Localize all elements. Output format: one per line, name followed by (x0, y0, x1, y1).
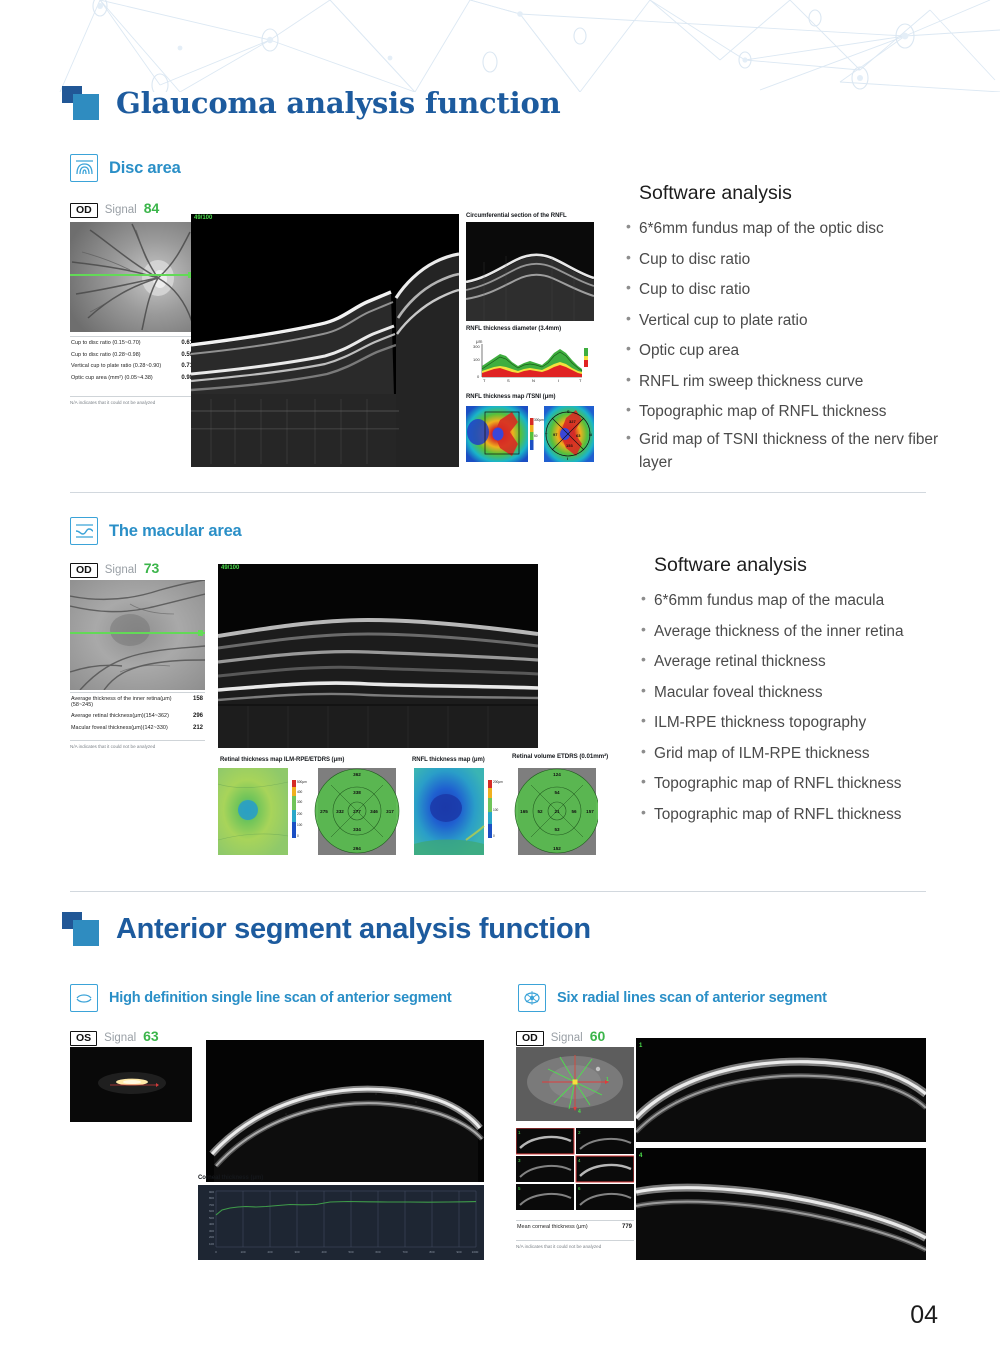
svg-text:800: 800 (209, 1196, 214, 1200)
page-number: 04 (910, 1301, 938, 1330)
table-row: Vertical cup to plate ratio (0.28~0.90) … (70, 361, 195, 373)
svg-text:53: 53 (554, 827, 560, 832)
section-marker-icon (62, 86, 102, 120)
caption-rnfl-tsni: RNFL thickness map /TSNI (μm) (466, 394, 555, 400)
list-item: Vertical cup to plate ratio (625, 306, 945, 337)
svg-text:152: 152 (553, 846, 561, 851)
svg-text:21: 21 (554, 809, 560, 814)
svg-text:327: 327 (569, 419, 576, 424)
signal-row-anterior-left: OS Signal 63 (70, 1028, 159, 1046)
anterior-preview-image-left (70, 1047, 192, 1122)
na-note-macula: N/A indicates that it could not be analy… (70, 740, 205, 749)
svg-text:317: 317 (386, 809, 394, 814)
eye-tag-od: OD (70, 203, 98, 218)
software-analysis-list-macula: 6*6mm fundus map of the macula Average t… (640, 586, 950, 830)
caption-retinal-volume: Retinal volume ETDRS (0.01mm²) (512, 753, 608, 760)
radial-thumbnail-grid[interactable]: 1 2 3 4 5 (516, 1128, 634, 1211)
metric-label: Cup to disc ratio (0.15~0.70) (71, 341, 141, 347)
svg-text:900: 900 (456, 1250, 461, 1254)
radial-scan-icon (518, 984, 546, 1012)
metric-label: Optic cup area (mm²) (0.05~4.38) (71, 376, 153, 382)
metric-label: Vertical cup to plate ratio (0.28~0.90) (71, 364, 161, 370)
table-row: Average thickness of the inner retina(μm… (70, 693, 205, 711)
oct-frame-index: 49/100 (194, 215, 212, 221)
software-analysis-list-disc: 6*6mm fundus map of the optic disc Cup t… (625, 214, 945, 474)
svg-text:400: 400 (209, 1222, 214, 1226)
subsection-header-disc-area: Disc area (70, 154, 181, 182)
metric-value: 212 (193, 725, 203, 732)
list-item: RNFL rim sweep thickness curve (625, 367, 945, 398)
eye-tag-od: OD (70, 563, 98, 578)
software-analysis-title: Software analysis (640, 554, 950, 577)
list-item: Grid map of ILM-RPE thickness (640, 739, 950, 770)
na-note-disc: N/A indicates that it could not be analy… (70, 396, 195, 405)
signal-value: 63 (143, 1028, 159, 1044)
metrics-table-anterior-right: Mean corneal thickness (μm) 779 (516, 1220, 634, 1233)
oct-bscan-disc: 49/100 (191, 214, 459, 467)
table-row: Average retinal thickness(μm)(154~362) 2… (70, 711, 205, 723)
disc-area-icon (70, 154, 98, 182)
metrics-table-macula: Average thickness of the inner retina(μm… (70, 692, 205, 735)
chart-corneal-thickness: 900800700 600500400 300200100 0100200 30… (198, 1185, 484, 1260)
section-header-glaucoma: Glaucoma analysis function (62, 86, 560, 120)
caption-rnfl-thickness-map: RNFL thickness map (μm) (412, 757, 485, 763)
caption-retinal-thickness-map: Retinal thickness map ILM-RPE/ETDRS (μm) (220, 757, 344, 763)
section-title-glaucoma: Glaucoma analysis function (116, 86, 560, 120)
svg-text:100: 100 (493, 808, 499, 812)
signal-label: Signal (105, 204, 137, 216)
svg-text:332: 332 (336, 809, 344, 814)
svg-text:300: 300 (297, 800, 303, 804)
scan-line-indicator (70, 274, 195, 276)
metric-value: 779 (622, 1224, 632, 1231)
svg-text:157: 157 (586, 809, 594, 814)
subsection-header-hd-line-scan: High definition single line scan of ante… (70, 984, 451, 1012)
section-marker-icon (62, 912, 102, 946)
brochure-page: Glaucoma analysis function Disc area OD … (0, 0, 1000, 1366)
svg-text:300μm: 300μm (534, 418, 544, 422)
signal-value: 60 (590, 1028, 606, 1044)
eye-tag-od: OD (516, 1031, 544, 1046)
svg-text:700: 700 (209, 1203, 214, 1207)
subsection-header-six-radial: Six radial lines scan of anterior segmen… (518, 984, 827, 1012)
list-item: 6*6mm fundus map of the optic disc (625, 214, 945, 245)
metric-value: 158 (193, 696, 203, 703)
svg-text:600: 600 (209, 1209, 214, 1213)
svg-text:100: 100 (297, 823, 303, 827)
subsection-label-six-radial: Six radial lines scan of anterior segmen… (557, 990, 827, 1006)
software-analysis-macula: Software analysis 6*6mm fundus map of th… (640, 554, 950, 830)
svg-text:200μm: 200μm (493, 780, 503, 784)
svg-text:I: I (567, 456, 568, 461)
list-item: Topographic map of RNFL thickness (640, 769, 950, 800)
svg-text:334: 334 (353, 827, 361, 832)
fundus-image-disc (70, 222, 195, 332)
software-analysis-title: Software analysis (625, 182, 945, 205)
list-item: Topographic map of RNFL thickness (640, 800, 950, 831)
svg-text:N: N (589, 432, 592, 437)
signal-value: 73 (144, 560, 160, 576)
table-row: Cup to disc ratio (0.28~0.98) 0.59 (70, 349, 195, 361)
svg-text:165: 165 (520, 809, 528, 814)
metric-value: 296 (193, 713, 203, 720)
table-row: Macular foveal thickness(μm)(142~330) 21… (70, 723, 205, 735)
metric-label: Macular foveal thickness(μm)(142~330) (71, 726, 168, 732)
oct-anterior-left (206, 1040, 484, 1182)
svg-text:400: 400 (321, 1250, 326, 1254)
caption-corneal-thickness: Corneal thickness (μm) (198, 1175, 263, 1181)
svg-text:100: 100 (240, 1250, 245, 1254)
macula-icon (70, 517, 98, 545)
svg-text:100: 100 (209, 1242, 214, 1246)
signal-row-anterior-right: OD Signal 60 (516, 1028, 605, 1046)
macula-map-row: 500μm400300 2001000 362338 275332 277346… (218, 768, 598, 855)
svg-text:124: 124 (553, 772, 561, 777)
svg-text:1000: 1000 (472, 1250, 479, 1254)
svg-text:500: 500 (348, 1250, 353, 1254)
section-header-anterior: Anterior segment analysis function (62, 912, 591, 946)
list-item: Optic cup area (625, 336, 945, 367)
metric-label: Cup to disc ratio (0.28~0.98) (71, 353, 141, 359)
svg-text:600: 600 (375, 1250, 380, 1254)
svg-text:100: 100 (473, 357, 480, 362)
svg-text:277: 277 (353, 809, 361, 814)
oct-anterior-right-bottom: 4 (636, 1148, 926, 1260)
table-row: Cup to disc ratio (0.15~0.70) 0.61 (70, 337, 195, 349)
subsection-header-macular: The macular area (70, 517, 242, 545)
svg-text:I: I (558, 378, 559, 383)
svg-text:N: N (532, 378, 535, 383)
oct-anterior-right-top: 1 (636, 1038, 926, 1142)
signal-row-macula: OD Signal 73 (70, 560, 159, 578)
fundus-image-macula (70, 580, 205, 690)
svg-text:0: 0 (493, 834, 495, 838)
svg-text:275: 275 (320, 809, 328, 814)
svg-text:900: 900 (209, 1190, 214, 1194)
list-item: Average thickness of the inner retina (640, 617, 950, 648)
list-item: Cup to disc ratio (625, 275, 945, 306)
chart-rnfl-thickness-diameter: μm 300 100 0 TSNIT (466, 336, 594, 384)
svg-text:0: 0 (297, 834, 299, 838)
svg-text:T: T (579, 378, 582, 383)
metric-label: Mean corneal thickness (μm) (517, 1225, 588, 1231)
metric-label: Average retinal thickness(μm)(154~362) (71, 714, 169, 720)
svg-text:500: 500 (209, 1216, 214, 1220)
radial-scan-preview: 14 (516, 1047, 634, 1121)
svg-text:300: 300 (473, 344, 480, 349)
header-network-decoration (0, 0, 1000, 92)
svg-text:200: 200 (209, 1235, 214, 1239)
list-item: Average retinal thickness (640, 647, 950, 678)
svg-text:200: 200 (297, 812, 303, 816)
oct-frame-index: 49/100 (221, 565, 239, 571)
divider-2 (70, 891, 926, 892)
eye-tag-os: OS (70, 1031, 97, 1046)
svg-text:97: 97 (553, 432, 558, 437)
svg-text:338: 338 (353, 790, 361, 795)
table-row: Optic cup area (mm²) (0.05~4.38) 0.98 (70, 373, 195, 385)
svg-text:S: S (507, 378, 510, 383)
svg-text:700: 700 (402, 1250, 407, 1254)
caption-rnfl-diameter: RNFL thickness diameter (3.4mm) (466, 326, 561, 332)
list-item: Topographic map of RNFL thickness (625, 397, 945, 428)
svg-text:300: 300 (209, 1229, 214, 1233)
section-title-anterior: Anterior segment analysis function (116, 913, 591, 946)
svg-text:T: T (483, 378, 486, 383)
na-note-anterior: N/A indicates that it could not be analy… (516, 1240, 634, 1249)
svg-text:300: 300 (294, 1250, 299, 1254)
subsection-label-disc-area: Disc area (109, 159, 181, 178)
svg-text:800: 800 (429, 1250, 434, 1254)
svg-text:S: S (567, 409, 570, 414)
signal-label: Signal (104, 1032, 136, 1044)
svg-text:60: 60 (534, 434, 538, 438)
list-item: 6*6mm fundus map of the macula (640, 586, 950, 617)
software-analysis-disc: Software analysis 6*6mm fundus map of th… (625, 182, 945, 474)
scan-line-indicator (70, 632, 205, 634)
svg-text:500μm: 500μm (297, 780, 307, 784)
signal-label: Signal (551, 1032, 583, 1044)
oct-circumferential-rnfl (466, 222, 594, 321)
svg-text:56: 56 (571, 809, 577, 814)
list-item: ILM-RPE thickness topography (640, 708, 950, 739)
subsection-label-macular: The macular area (109, 522, 242, 541)
metrics-table-disc: Cup to disc ratio (0.15~0.70) 0.61 Cup t… (70, 336, 195, 385)
divider-1 (70, 492, 926, 493)
rnfl-tsni-maps: 300μm 60 STNI 3279763153 (466, 404, 594, 464)
svg-text:294: 294 (353, 846, 361, 851)
svg-text:346: 346 (370, 809, 378, 814)
caption-circumferential-rnfl: Circumferential section of the RNFL (466, 213, 567, 219)
svg-text:362: 362 (353, 772, 361, 777)
svg-text:153: 153 (566, 443, 573, 448)
svg-text:0: 0 (477, 374, 480, 379)
svg-text:63: 63 (576, 433, 581, 438)
subsection-label-hd-line-scan: High definition single line scan of ante… (109, 990, 451, 1006)
list-item: Grid map of TSNI thickness of the nerv f… (625, 428, 945, 474)
svg-text:200: 200 (267, 1250, 272, 1254)
svg-text:400: 400 (297, 790, 303, 794)
svg-text:4: 4 (578, 1109, 581, 1115)
svg-text:54: 54 (554, 790, 560, 795)
signal-label: Signal (105, 564, 137, 576)
oct-bscan-macula: 49/100 (218, 564, 538, 748)
cornea-line-icon (70, 984, 98, 1012)
svg-text:52: 52 (537, 809, 543, 814)
signal-value: 84 (144, 200, 160, 216)
signal-row-disc: OD Signal 84 (70, 200, 159, 218)
table-row: Mean corneal thickness (μm) 779 (516, 1221, 634, 1233)
list-item: Cup to disc ratio (625, 245, 945, 276)
metric-label: Average thickness of the inner retina(μm… (71, 697, 193, 709)
list-item: Macular foveal thickness (640, 678, 950, 709)
